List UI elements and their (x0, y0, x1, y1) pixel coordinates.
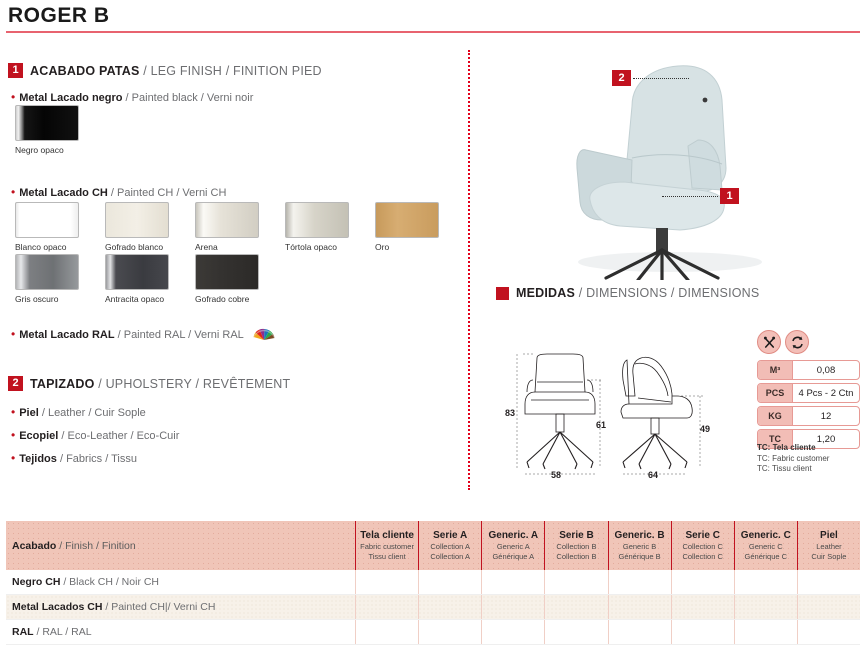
table-cell[interactable] (481, 595, 544, 619)
swatch-gofrado-blanco[interactable]: Gofrado blanco (105, 202, 169, 252)
swatch-label: Gofrado blanco (105, 242, 169, 252)
section-title-upholstery: TAPIZADO / UPHOLSTERY / REVÊTEMENT (30, 377, 290, 391)
recycle-icon (785, 330, 809, 354)
table-cell[interactable] (797, 595, 860, 619)
section-heading-dimensions: MEDIDAS / DIMENSIONS / DIMENSIONS (496, 286, 759, 300)
table-col-generic-a: Generic. A Generic A Générique A (481, 521, 544, 570)
bullet-dot-icon: • (11, 406, 15, 418)
swatch-antracita-opaco[interactable]: Antracita opaco (105, 254, 169, 304)
spec-row-pcs: PCS 4 Pcs - 2 Ctn (757, 383, 860, 403)
table-cell[interactable] (797, 620, 860, 644)
table-cell[interactable] (418, 570, 481, 594)
spec-row-m3: M³ 0,08 (757, 360, 860, 380)
table-cell[interactable] (418, 595, 481, 619)
bullet-metal-lacado-negro: • Metal Lacado negro / Painted black / V… (11, 91, 253, 104)
swatch-chip (195, 254, 259, 290)
section-square-badge (496, 287, 509, 300)
bullet-dot-icon: • (11, 186, 15, 198)
bullet-text: Ecopiel / Eco-Leather / Eco-Cuir (19, 430, 179, 442)
bullet-text: Metal Lacado CH / Painted CH / Verni CH (19, 187, 226, 199)
swatch-label: Tórtola opaco (285, 242, 349, 252)
bullet-text: Metal Lacado negro / Painted black / Ver… (19, 92, 253, 104)
spec-value: 4 Pcs - 2 Ctn (793, 384, 859, 402)
spec-value: 12 (793, 407, 859, 425)
callout-leader-line (662, 196, 718, 197)
swatch-label: Negro opaco (15, 145, 79, 155)
table-cell[interactable] (608, 620, 671, 644)
table-cell[interactable] (671, 595, 734, 619)
table-col-serie-c: Serie C Collection C Collection C (671, 521, 734, 570)
table-cell[interactable] (608, 570, 671, 594)
callout-1-leg-finish: 1 (720, 188, 739, 204)
finish-availability-table: Acabado / Finish / Finition Tela cliente… (6, 521, 860, 645)
table-cell[interactable] (671, 620, 734, 644)
table-cell[interactable] (544, 595, 607, 619)
swatch-chip (375, 202, 439, 238)
table-cell[interactable] (797, 570, 860, 594)
swatch-arena[interactable]: Arena (195, 202, 259, 252)
table-cell[interactable] (544, 570, 607, 594)
section-number-badge: 1 (8, 63, 23, 78)
table-cell[interactable] (734, 595, 797, 619)
table-cell[interactable] (734, 570, 797, 594)
section-title-leg-finish: ACABADO PATAS / LEG FINISH / FINITION PI… (30, 64, 322, 78)
swatch-gris-oscuro[interactable]: Gris oscuro (15, 254, 79, 304)
tc-legend-line-1: TC: Tela cliente (757, 443, 829, 454)
swatch-gofrado-cobre[interactable]: Gofrado cobre (195, 254, 259, 304)
table-col-serie-b: Serie B Collection B Collection B (544, 521, 607, 570)
table-col-piel: Piel Leather Cuir Sople (797, 521, 860, 570)
tc-legend-line-2: TC: Fabric customer (757, 454, 829, 465)
title-divider (6, 31, 860, 33)
bullet-dot-icon: • (11, 91, 15, 103)
table-col-tela-cliente: Tela cliente Fabric customer Tissu clien… (355, 521, 418, 570)
tc-legend: TC: Tela cliente TC: Fabric customer TC:… (757, 443, 829, 475)
color-fan-icon (253, 325, 275, 342)
table-cell[interactable] (608, 595, 671, 619)
page-title: ROGER B (8, 4, 110, 28)
swatch-label: Gris oscuro (15, 294, 79, 304)
spec-sheet-page: ROGER B 1 ACABADO PATAS / LEG FINISH / F… (0, 0, 866, 640)
row-label: RAL / RAL / RAL (6, 626, 355, 638)
bullet-metal-lacado-ral: • Metal Lacado RAL / Painted RAL / Verni… (11, 328, 244, 341)
column-divider (468, 50, 470, 490)
swatch-negro-opaco[interactable]: Negro opaco (15, 105, 79, 155)
swatch-chip (195, 202, 259, 238)
swatch-chip (15, 254, 79, 290)
spec-row-kg: KG 12 (757, 406, 860, 426)
table-cell[interactable] (355, 620, 418, 644)
swatch-label: Gofrado cobre (195, 294, 259, 304)
bullet-ecopiel: • Ecopiel / Eco-Leather / Eco-Cuir (11, 429, 179, 442)
dim-label-depth-64: 64 (648, 470, 658, 480)
table-cell[interactable] (355, 570, 418, 594)
tc-legend-line-3: TC: Tissu client (757, 464, 829, 475)
dim-label-height-83: 83 (505, 408, 515, 418)
packaging-spec-table: M³ 0,08 PCS 4 Pcs - 2 Ctn KG 12 TC 1,20 (757, 360, 860, 452)
table-row-metal-lacados-ch: Metal Lacados CH / Painted CH|/ Verni CH (6, 595, 860, 620)
callout-leader-line (633, 78, 689, 79)
spec-value: 0,08 (793, 361, 859, 379)
callout-2-upholstery: 2 (612, 70, 631, 86)
section-number-badge: 2 (8, 376, 23, 391)
bullet-piel: • Piel / Leather / Cuir Sople (11, 406, 146, 419)
section-title-dimensions: MEDIDAS / DIMENSIONS / DIMENSIONS (516, 286, 759, 300)
table-row-ral: RAL / RAL / RAL (6, 620, 860, 645)
swatch-label: Antracita opaco (105, 294, 169, 304)
swatch-label: Arena (195, 242, 259, 252)
bullet-metal-lacado-ch: • Metal Lacado CH / Painted CH / Verni C… (11, 186, 226, 199)
tools-icon (757, 330, 781, 354)
section-heading-leg-finish: 1 ACABADO PATAS / LEG FINISH / FINITION … (8, 63, 322, 78)
bullet-tejidos: • Tejidos / Fabrics / Tissu (11, 452, 137, 465)
swatch-chip (285, 202, 349, 238)
section-heading-upholstery: 2 TAPIZADO / UPHOLSTERY / REVÊTEMENT (8, 376, 290, 391)
row-label: Metal Lacados CH / Painted CH|/ Verni CH (6, 601, 355, 613)
table-cell[interactable] (355, 595, 418, 619)
swatch-chip (105, 202, 169, 238)
dim-label-height-61: 61 (596, 420, 606, 430)
table-header-row: Acabado / Finish / Finition Tela cliente… (6, 521, 860, 570)
row-label: Negro CH / Black CH / Noir CH (6, 576, 355, 588)
table-col-serie-a: Serie A Collection A Collection A (418, 521, 481, 570)
table-col-generic-c: Generic. C Generic C Générique C (734, 521, 797, 570)
bullet-text: Tejidos / Fabrics / Tissu (19, 453, 137, 465)
product-photo (520, 40, 840, 280)
swatch-chip (15, 105, 79, 141)
bullet-text: Piel / Leather / Cuir Sople (19, 407, 146, 419)
spec-key: PCS (758, 384, 793, 402)
recycle-glyph (790, 335, 805, 350)
bullet-dot-icon: • (11, 452, 15, 464)
bullet-dot-icon: • (11, 328, 15, 340)
swatch-blanco-opaco[interactable]: Blanco opaco (15, 202, 79, 252)
bullet-dot-icon: • (11, 429, 15, 441)
spec-icon-row (757, 330, 809, 354)
table-row-negro-ch: Negro CH / Black CH / Noir CH (6, 570, 860, 595)
table-cell[interactable] (481, 570, 544, 594)
spec-key: KG (758, 407, 793, 425)
tools-glyph (762, 335, 777, 350)
bullet-text: Metal Lacado RAL / Painted RAL / Verni R… (19, 329, 244, 341)
table-header-acabado: Acabado / Finish / Finition (6, 521, 355, 570)
table-col-generic-b: Generic. B Generic B Générique B (608, 521, 671, 570)
swatch-label: Blanco opaco (15, 242, 79, 252)
table-cell[interactable] (544, 620, 607, 644)
swatch-oro[interactable]: Oro (375, 202, 439, 252)
swatch-label: Oro (375, 242, 439, 252)
dim-label-width-58: 58 (551, 470, 561, 480)
swatch-chip (105, 254, 169, 290)
swatch-tortola-opaco[interactable]: Tórtola opaco (285, 202, 349, 252)
spec-key: M³ (758, 361, 793, 379)
table-cell[interactable] (481, 620, 544, 644)
dimension-drawings (495, 352, 745, 487)
swatch-chip (15, 202, 79, 238)
table-cell[interactable] (734, 620, 797, 644)
table-cell[interactable] (671, 570, 734, 594)
dim-label-height-49: 49 (700, 424, 710, 434)
table-cell[interactable] (418, 620, 481, 644)
